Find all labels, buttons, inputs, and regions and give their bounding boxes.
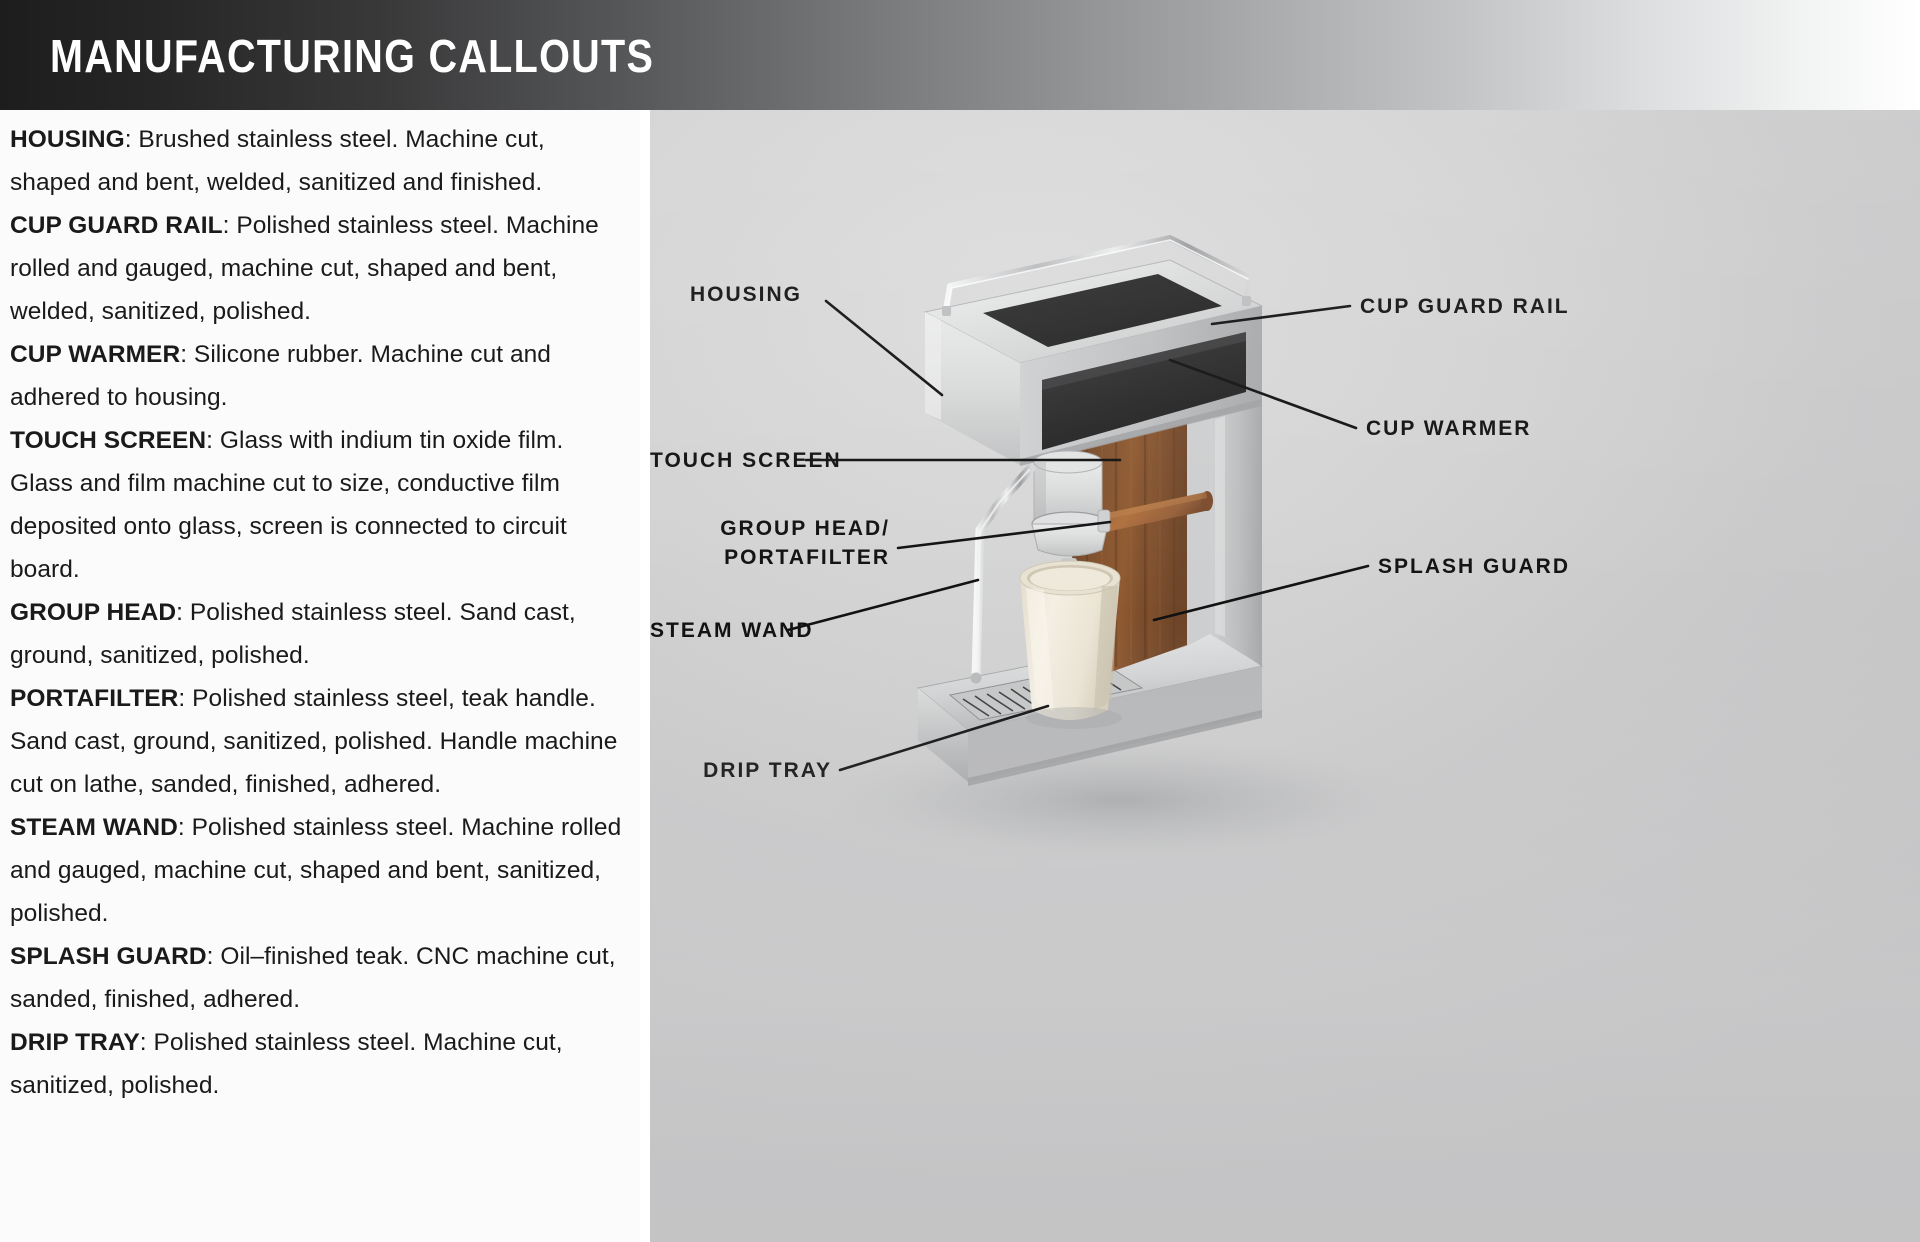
callout-colon: : bbox=[178, 685, 192, 712]
callout-colon: : bbox=[223, 212, 237, 239]
diagram-label-group-head-line2: PORTAFILTER bbox=[650, 543, 890, 572]
espresso-machine-illustration bbox=[650, 110, 1920, 1242]
callout-term: CUP WARMER bbox=[10, 341, 180, 368]
callout-term: CUP GUARD RAIL bbox=[10, 212, 223, 239]
diagram-label-group-head-line1: GROUP HEAD/ bbox=[650, 514, 890, 543]
diagram-label-cup-guard-rail: CUP GUARD RAIL bbox=[1360, 292, 1570, 321]
cup-shadow bbox=[1026, 707, 1122, 729]
callout-colon: : bbox=[178, 814, 192, 841]
callout-term: SPLASH GUARD bbox=[10, 943, 207, 970]
callout-text-panel: HOUSING: Brushed stainless steel. Machin… bbox=[0, 110, 640, 1242]
page-header: MANUFACTURING CALLOUTS bbox=[0, 0, 1920, 110]
callout-term: PORTAFILTER bbox=[10, 685, 178, 712]
diagram-label-touch-screen: TOUCH SCREEN bbox=[650, 446, 798, 475]
callout-item-group-head: GROUP HEAD: Polished stainless steel. Sa… bbox=[10, 591, 630, 677]
callout-item-splash-guard: SPLASH GUARD: Oil–finished teak. CNC mac… bbox=[10, 935, 630, 1021]
callout-colon: : bbox=[140, 1029, 154, 1056]
diagram-label-splash-guard: SPLASH GUARD bbox=[1378, 552, 1570, 581]
callout-colon: : bbox=[180, 341, 194, 368]
diagram-label-housing: HOUSING bbox=[690, 280, 802, 309]
diagram-label-group-head: GROUP HEAD/ PORTAFILTER bbox=[650, 514, 890, 572]
callout-colon: : bbox=[207, 943, 221, 970]
callout-item-touch-screen: TOUCH SCREEN: Glass with indium tin oxid… bbox=[10, 419, 630, 591]
diagram-label-steam-wand: STEAM WAND bbox=[650, 616, 780, 645]
callout-colon: : bbox=[125, 126, 139, 153]
leader-steam-wand bbox=[788, 580, 978, 630]
housing-left-bevel bbox=[925, 312, 941, 420]
callout-colon: : bbox=[176, 599, 190, 626]
callout-term: HOUSING bbox=[10, 126, 125, 153]
portafilter-basket bbox=[1032, 524, 1108, 556]
diagram-label-cup-warmer: CUP WARMER bbox=[1366, 414, 1531, 443]
product-diagram-panel: HOUSING CUP GUARD RAIL CUP WARMER TOUCH … bbox=[650, 110, 1920, 1242]
page-title: MANUFACTURING CALLOUTS bbox=[50, 30, 654, 82]
callout-item-cup-warmer: CUP WARMER: Silicone rubber. Machine cut… bbox=[10, 333, 630, 419]
callout-term: GROUP HEAD bbox=[10, 599, 176, 626]
ground-shadow bbox=[820, 738, 1420, 862]
cup-guard-rail-foot-right bbox=[1242, 296, 1251, 306]
callout-item-cup-guard-rail: CUP GUARD RAIL: Polished stainless steel… bbox=[10, 204, 630, 333]
leader-housing bbox=[826, 301, 942, 395]
callout-term: DRIP TRAY bbox=[10, 1029, 140, 1056]
callout-term: TOUCH SCREEN bbox=[10, 427, 206, 454]
callout-item-portafilter: PORTAFILTER: Polished stainless steel, t… bbox=[10, 677, 630, 806]
manufacturing-callouts-page: MANUFACTURING CALLOUTS HOUSING: Brushed … bbox=[0, 0, 1920, 1242]
callout-item-housing: HOUSING: Brushed stainless steel. Machin… bbox=[10, 118, 630, 204]
callout-term: STEAM WAND bbox=[10, 814, 178, 841]
callout-item-drip-tray: DRIP TRAY: Polished stainless steel. Mac… bbox=[10, 1021, 630, 1107]
callout-colon: : bbox=[206, 427, 220, 454]
cup-guard-rail-foot-left bbox=[942, 306, 951, 316]
diagram-label-drip-tray: DRIP TRAY bbox=[650, 756, 832, 785]
callout-item-steam-wand: STEAM WAND: Polished stainless steel. Ma… bbox=[10, 806, 630, 935]
steam-wand-tip bbox=[971, 673, 982, 684]
coffee-cup bbox=[1020, 561, 1120, 720]
